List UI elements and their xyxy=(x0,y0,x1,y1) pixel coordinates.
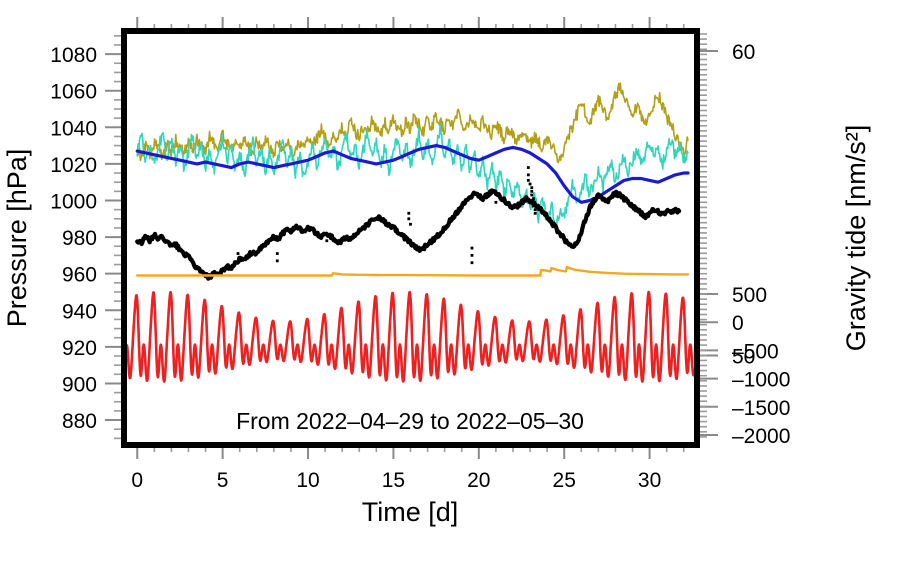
scatter-dot xyxy=(409,223,412,226)
scatter-dot xyxy=(534,212,537,215)
scatter-dot xyxy=(237,252,240,255)
tick-label: –1500 xyxy=(732,397,790,420)
chart-svg: From 2022–04–29 to 2022–05–30 Time [d] P… xyxy=(0,0,900,568)
axis-tick-labels: 0510152025301080106010401020100098096094… xyxy=(50,41,790,568)
scatter-dot xyxy=(530,194,533,197)
tick-label: 920 xyxy=(62,337,97,360)
tick-label: 0 xyxy=(131,469,143,492)
y-axis-left-label: Pressure [hPa] xyxy=(2,149,32,328)
tick-label: 1080 xyxy=(50,44,97,67)
tick-label: 500 xyxy=(732,284,767,307)
tick-label: 940 xyxy=(62,300,97,323)
y-axis-right-label: Gravity tide [nm/s²] xyxy=(841,125,871,352)
tick-label: –1000 xyxy=(732,369,790,392)
scatter-dot xyxy=(325,239,328,242)
tick-label: 20 xyxy=(467,469,490,492)
tick-label: –500 xyxy=(732,340,779,363)
scatter-dot xyxy=(534,208,537,211)
tick-label: 60 xyxy=(732,41,755,64)
scatter-dot xyxy=(527,166,530,169)
series-red-gravity-tide xyxy=(127,292,694,382)
scatter-dot xyxy=(471,261,474,264)
plot-frame xyxy=(124,31,697,445)
scatter-dot xyxy=(471,247,474,250)
figure-container: From 2022–04–29 to 2022–05–30 Time [d] P… xyxy=(0,0,900,568)
scatter-dot xyxy=(532,201,535,204)
scatter-dot xyxy=(407,217,410,220)
tick-label: 980 xyxy=(62,227,97,250)
tick-label: 1000 xyxy=(50,190,97,213)
tick-label: 0 xyxy=(732,312,744,335)
scatter-dot xyxy=(471,254,474,257)
tick-label: 1060 xyxy=(50,81,97,104)
scatter-dot xyxy=(588,206,591,209)
tick-label: 1020 xyxy=(50,154,97,177)
date-range-annotation: From 2022–04–29 to 2022–05–30 xyxy=(236,408,584,434)
scatter-dot xyxy=(407,212,410,215)
scatter-dot xyxy=(530,190,533,193)
tick-label: 880 xyxy=(62,410,97,433)
scatter-dot xyxy=(532,205,535,208)
tick-label: 1040 xyxy=(50,117,97,140)
tick-label: 5 xyxy=(217,469,229,492)
data-series xyxy=(127,83,694,381)
scatter-dot xyxy=(527,179,530,182)
scatter-dot xyxy=(530,186,533,189)
scatter-dot xyxy=(276,252,279,255)
scatter-dot xyxy=(276,259,279,262)
tick-label: 15 xyxy=(382,469,405,492)
series-black-pressure xyxy=(137,190,679,278)
tick-label: 900 xyxy=(62,373,97,396)
tick-label: 30 xyxy=(638,469,661,492)
scatter-dot xyxy=(527,173,530,176)
x-axis-label: Time [d] xyxy=(362,497,459,527)
scatter-dot xyxy=(532,197,535,200)
tick-label: –2000 xyxy=(732,425,790,448)
scatter-dot xyxy=(529,183,532,186)
tick-label: 25 xyxy=(553,469,576,492)
scatter-dot xyxy=(494,201,497,204)
tick-label: 960 xyxy=(62,264,97,287)
tick-label: 10 xyxy=(296,469,319,492)
